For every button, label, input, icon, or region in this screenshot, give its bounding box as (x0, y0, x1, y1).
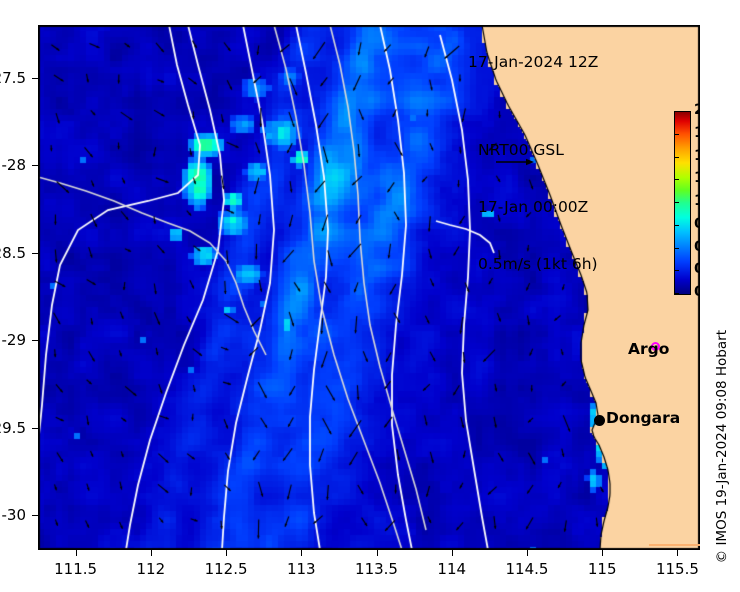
y-tick-mark (32, 428, 38, 429)
colorbar-tick-label: 1.5 (694, 148, 700, 164)
colorbar-tick-label: 0.75 (694, 216, 700, 232)
colorbar-tick-mark (674, 225, 679, 226)
copyright-credit: © IMOS 19-Jan-2024 09:08 Hobart (714, 330, 730, 563)
x-tick-label: 111.5 (41, 560, 111, 578)
colorbar-tick-label: 1 (694, 193, 700, 209)
y-tick-label: -27.5 (0, 69, 26, 87)
colorbar-tick-mark (674, 157, 679, 158)
x-tick-label: 115.5 (642, 560, 712, 578)
y-tick-label: -28 (0, 156, 26, 174)
current-scale-label: 0.5m/s (1kt 6h) (478, 255, 598, 274)
x-tick-mark (301, 550, 302, 556)
current-info-block: NRT00 GSL 17-Jan 00:00Z 0.5m/s (1kt 6h) (478, 103, 598, 312)
x-tick-mark (151, 550, 152, 556)
y-tick-mark (32, 253, 38, 254)
x-tick-label: 114 (417, 560, 487, 578)
contour-200m-swatch (649, 544, 700, 546)
dongara-marker-icon (594, 415, 605, 426)
x-tick-mark (602, 550, 603, 556)
y-tick-label: -29 (0, 331, 26, 349)
x-tick-label: 113.5 (342, 560, 412, 578)
y-tick-label: -29.5 (0, 419, 26, 437)
figure-root: 17-Jan-2024 12Z NRT00 GSL 17-Jan 00:00Z … (0, 0, 740, 592)
x-tick-label: 112.5 (191, 560, 261, 578)
colorbar[interactable] (674, 111, 691, 295)
y-tick-label: -28.5 (0, 244, 26, 262)
y-tick-mark (32, 78, 38, 79)
date-stamp: 17-Jan-2024 12Z (468, 53, 598, 71)
x-tick-mark (452, 550, 453, 556)
x-tick-label: 114.5 (492, 560, 562, 578)
current-time-label: 17-Jan 00:00Z (478, 198, 598, 217)
colorbar-tick-label: 2 (694, 102, 700, 118)
colorbar-tick-mark (674, 134, 679, 135)
x-tick-mark (76, 550, 77, 556)
dongara-city-label: Dongara (606, 409, 680, 427)
map-plot-area[interactable]: 17-Jan-2024 12Z NRT00 GSL 17-Jan 00:00Z … (38, 25, 700, 550)
argo-legend-label: Argo (628, 340, 669, 358)
y-tick-mark (32, 165, 38, 166)
colorbar-tick-mark (674, 293, 679, 294)
x-tick-mark (527, 550, 528, 556)
colorbar-tick-mark (674, 111, 679, 112)
current-reference-arrow-icon (495, 157, 535, 167)
colorbar-tick-label: 0.5 (694, 239, 700, 255)
x-tick-mark (677, 550, 678, 556)
colorbar-tick-mark (674, 202, 679, 203)
colorbar-tick-label: 1.25 (694, 170, 700, 186)
x-tick-label: 115 (567, 560, 637, 578)
x-tick-label: 112 (116, 560, 186, 578)
colorbar-tick-mark (674, 270, 679, 271)
y-tick-mark (32, 340, 38, 341)
colorbar-tick-label: 0 (694, 284, 700, 300)
x-tick-mark (377, 550, 378, 556)
y-tick-mark (32, 515, 38, 516)
colorbar-gradient (675, 112, 690, 294)
colorbar-tick-mark (674, 179, 679, 180)
colorbar-tick-label: 1.75 (694, 125, 700, 141)
colorbar-tick-label: 0.25 (694, 261, 700, 277)
x-tick-mark (226, 550, 227, 556)
y-tick-label: -30 (0, 506, 26, 524)
x-tick-label: 113 (266, 560, 336, 578)
colorbar-tick-mark (674, 248, 679, 249)
sst-age-heatmap-canvas[interactable] (38, 25, 700, 550)
